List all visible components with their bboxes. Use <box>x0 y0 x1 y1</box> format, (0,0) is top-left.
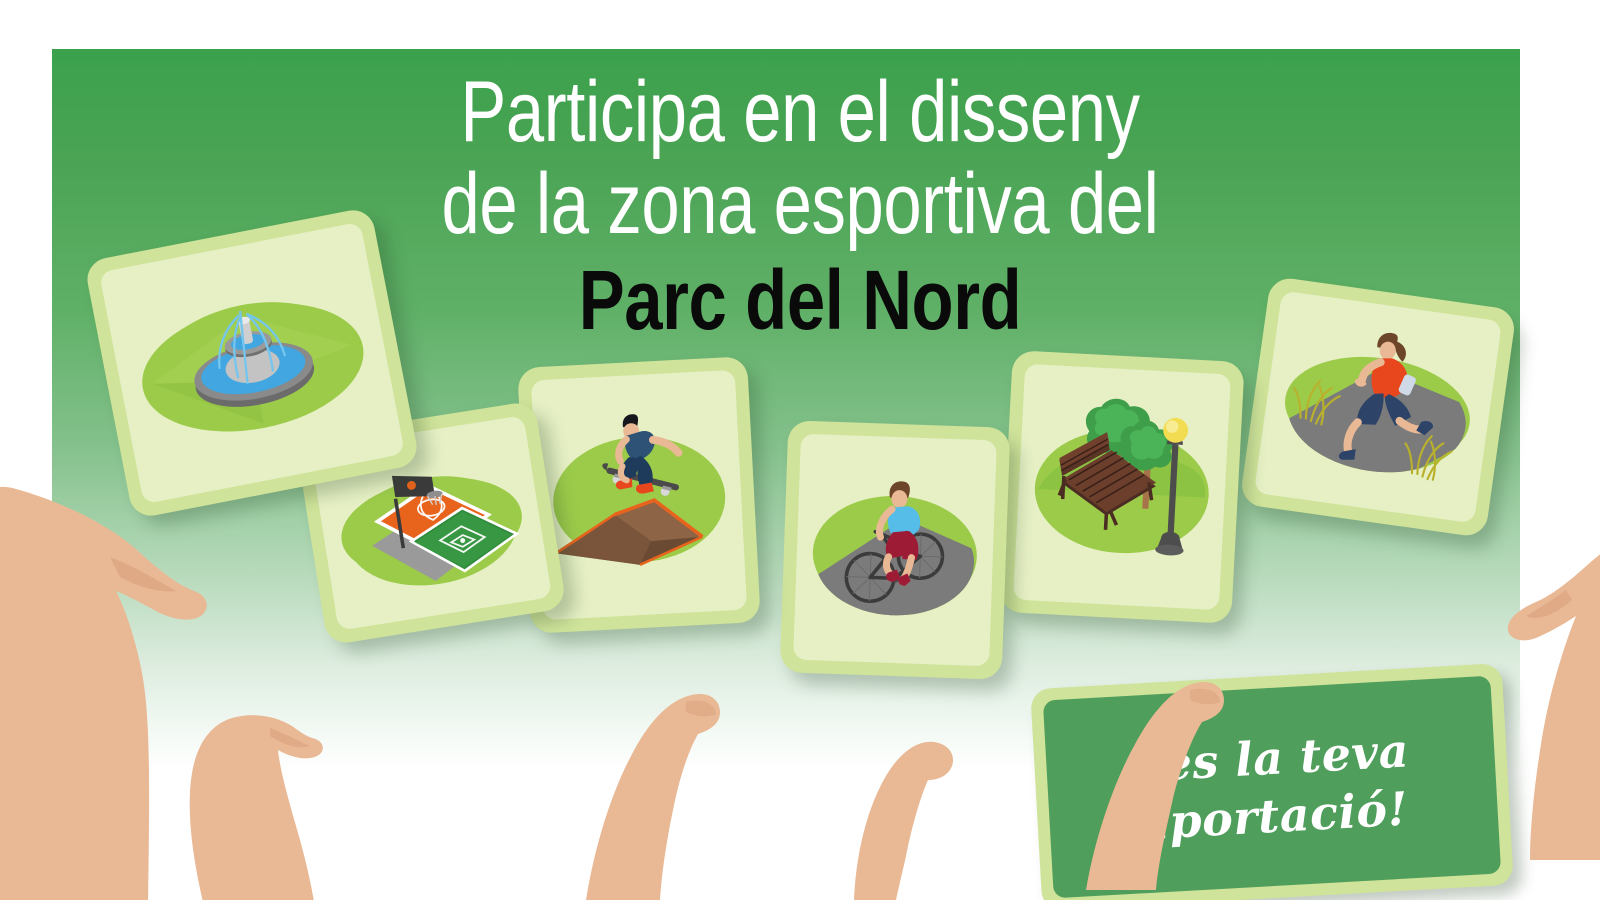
hand-right-1 <box>1060 490 1360 890</box>
hand-center-1 <box>530 520 830 900</box>
hand-left-2 <box>150 530 430 900</box>
hand-right-2 <box>1330 440 1600 860</box>
hand-center-2 <box>830 600 1080 900</box>
poster-canvas: Participa en el disseny de la zona espor… <box>0 0 1600 900</box>
